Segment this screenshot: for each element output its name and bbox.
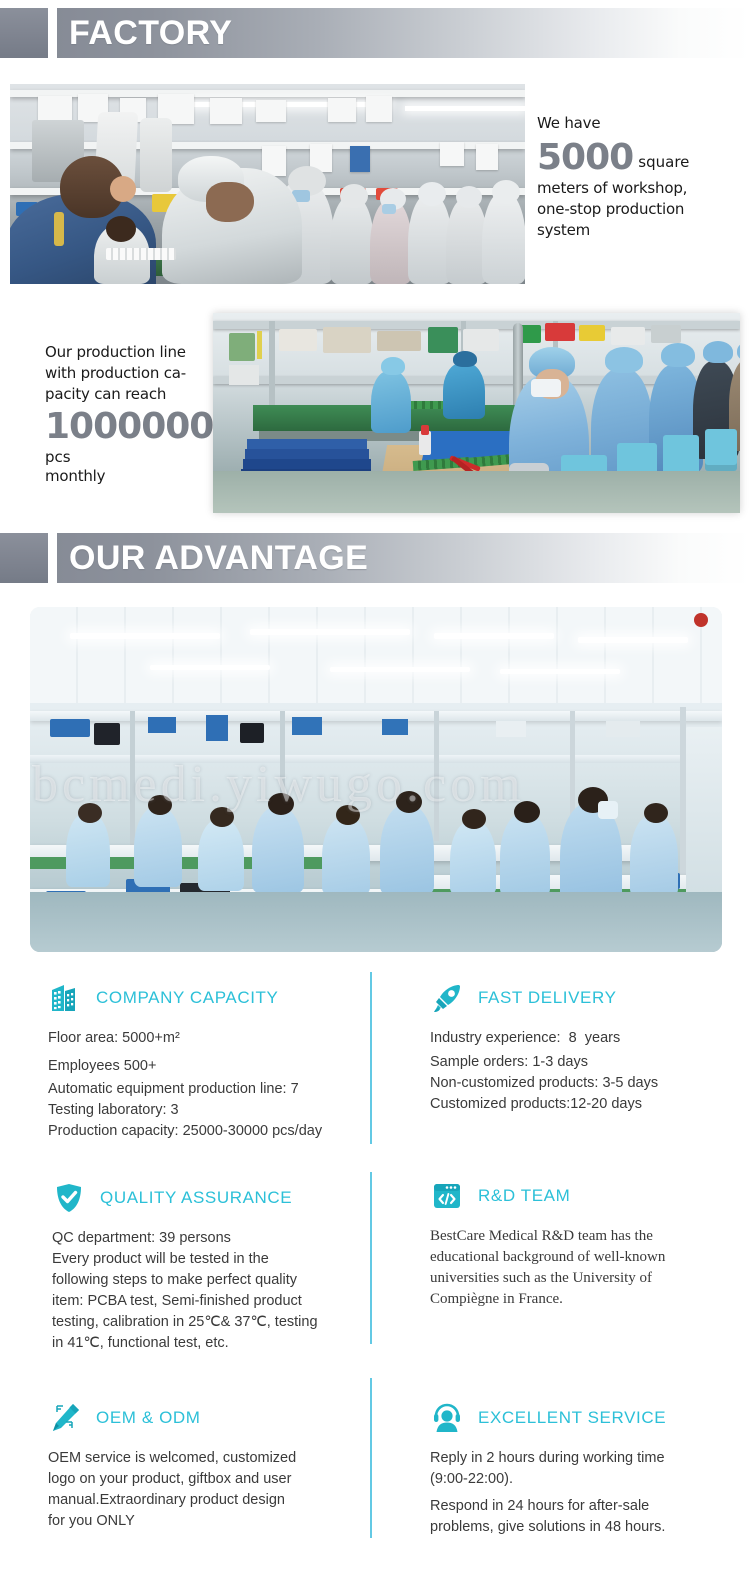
blurb-line2: meters of workshop, [537,178,747,199]
card-line: logo on your product, giftbox and user [48,1469,348,1490]
section-banner-advantage: OUR ADVANTAGE [0,533,750,583]
card-body: OEM service is welcomed, customized logo… [48,1448,348,1532]
card-line: Production capacity: 25000-30000 pcs/day [48,1121,358,1142]
card-divider-3 [370,1378,372,1538]
card-body: Floor area: 5000+m² Employees 500+ Autom… [48,1028,358,1142]
card-body: Reply in 2 hours during working time (9:… [430,1448,730,1538]
card-title: QUALITY ASSURANCE [100,1188,292,1208]
prod-line1: Our production line [45,342,225,363]
rocket-icon [430,981,464,1015]
card-line: testing, calibration in 25℃& 37℃, testin… [52,1312,352,1333]
banner-gradient-bar-advantage: OUR ADVANTAGE [53,533,750,583]
blurb-unit: square [638,153,689,171]
card-header: QUALITY ASSURANCE [52,1178,352,1218]
card-body: BestCare Medical R&D team has the educat… [430,1226,720,1310]
card-line: following steps to make perfect quality [52,1270,352,1291]
code-window-icon [430,1179,464,1213]
card-line: Every product will be tested in the [52,1249,352,1270]
banner-block-icon-advantage [0,533,48,583]
advantage-card-fast-delivery: FAST DELIVERY Industry experience: 8 yea… [430,978,730,1115]
card-line: Non-customized products: 3-5 days [430,1073,730,1094]
card-line: QC department: 39 persons [52,1228,352,1249]
section-title-advantage: OUR ADVANTAGE [53,541,368,575]
card-title: EXCELLENT SERVICE [478,1408,666,1428]
card-line: Employees 500+ [48,1056,358,1077]
advantage-card-rd-team: R&D TEAM BestCare Medical R&D team has t… [430,1176,720,1310]
blurb-line4: system [537,220,747,241]
card-body: QC department: 39 persons Every product … [52,1228,352,1354]
card-line: Industry experience: 8 years [430,1028,730,1049]
prod-number-1000000: 1000000 [45,407,213,447]
production-line-photo [213,313,740,513]
prod-line2: with production ca- [45,363,225,384]
prod-line4: monthly [45,466,225,487]
advantage-workshop-photo: bcmedi.yiwugo.com [30,607,722,952]
advantage-card-oem-odm: OEM & ODM OEM service is welcomed, custo… [48,1398,348,1532]
card-header: EXCELLENT SERVICE [430,1398,730,1438]
prod-unit: pcs [45,448,71,466]
card-line: OEM service is welcomed, customized [48,1448,348,1469]
card-line: (9:00-22:00). [430,1469,730,1490]
pencil-icon [48,1401,82,1435]
building-icon [48,981,82,1015]
card-line: educational background of well-known [430,1247,720,1268]
card-line: item: PCBA test, Semi-finished product [52,1291,352,1312]
prod-line3: pacity can reach [45,384,225,405]
card-body: Industry experience: 8 years Sample orde… [430,1028,730,1115]
blurb-line3: one-stop production [537,199,747,220]
production-capacity-blurb: Our production line with production ca- … [45,342,225,487]
card-line: in 41℃, functional test, etc. [52,1333,352,1354]
blurb-number-5000: 5000 [537,138,633,178]
factory-photo-workers [10,84,525,284]
card-title: FAST DELIVERY [478,988,617,1008]
headset-support-icon [430,1401,464,1435]
card-title: R&D TEAM [478,1186,570,1206]
card-line: universities such as the University of [430,1268,720,1289]
shield-check-icon [52,1181,86,1215]
card-line: Automatic equipment production line: 7 [48,1079,358,1100]
card-header: OEM & ODM [48,1398,348,1438]
card-line: Customized products:12-20 days [430,1094,730,1115]
advantage-card-company-capacity: COMPANY CAPACITY Floor area: 5000+m² Emp… [48,978,358,1142]
card-header: FAST DELIVERY [430,978,730,1018]
card-line: Testing laboratory: 3 [48,1100,358,1121]
card-line: manual.Extraordinary product design [48,1490,348,1511]
blurb-intro: We have [537,113,747,134]
banner-gradient-bar: FACTORY [53,8,750,58]
card-header: COMPANY CAPACITY [48,978,358,1018]
advantage-card-quality-assurance: QUALITY ASSURANCE QC department: 39 pers… [52,1178,352,1354]
card-line: Reply in 2 hours during working time [430,1448,730,1469]
card-header: R&D TEAM [430,1176,720,1216]
card-line: Floor area: 5000+m² [48,1028,358,1049]
card-line: problems, give solutions in 48 hours. [430,1517,730,1538]
advantage-card-excellent-service: EXCELLENT SERVICE Reply in 2 hours durin… [430,1398,730,1538]
card-title: COMPANY CAPACITY [96,988,278,1008]
factory-capacity-blurb: We have 5000 square meters of workshop, … [537,113,747,241]
card-divider-2 [370,1172,372,1344]
card-line: for you ONLY [48,1511,348,1532]
page-root: FACTORY [0,0,750,1570]
card-line: Sample orders: 1-3 days [430,1052,730,1073]
card-divider-1 [370,972,372,1144]
section-banner-factory: FACTORY [0,8,750,58]
card-title: OEM & ODM [96,1408,201,1428]
card-line: BestCare Medical R&D team has the [430,1226,720,1247]
section-title-factory: FACTORY [53,16,232,50]
banner-block-icon [0,8,48,58]
card-line: Compiègne in France. [430,1289,720,1310]
card-line: Respond in 24 hours for after-sale [430,1496,730,1517]
